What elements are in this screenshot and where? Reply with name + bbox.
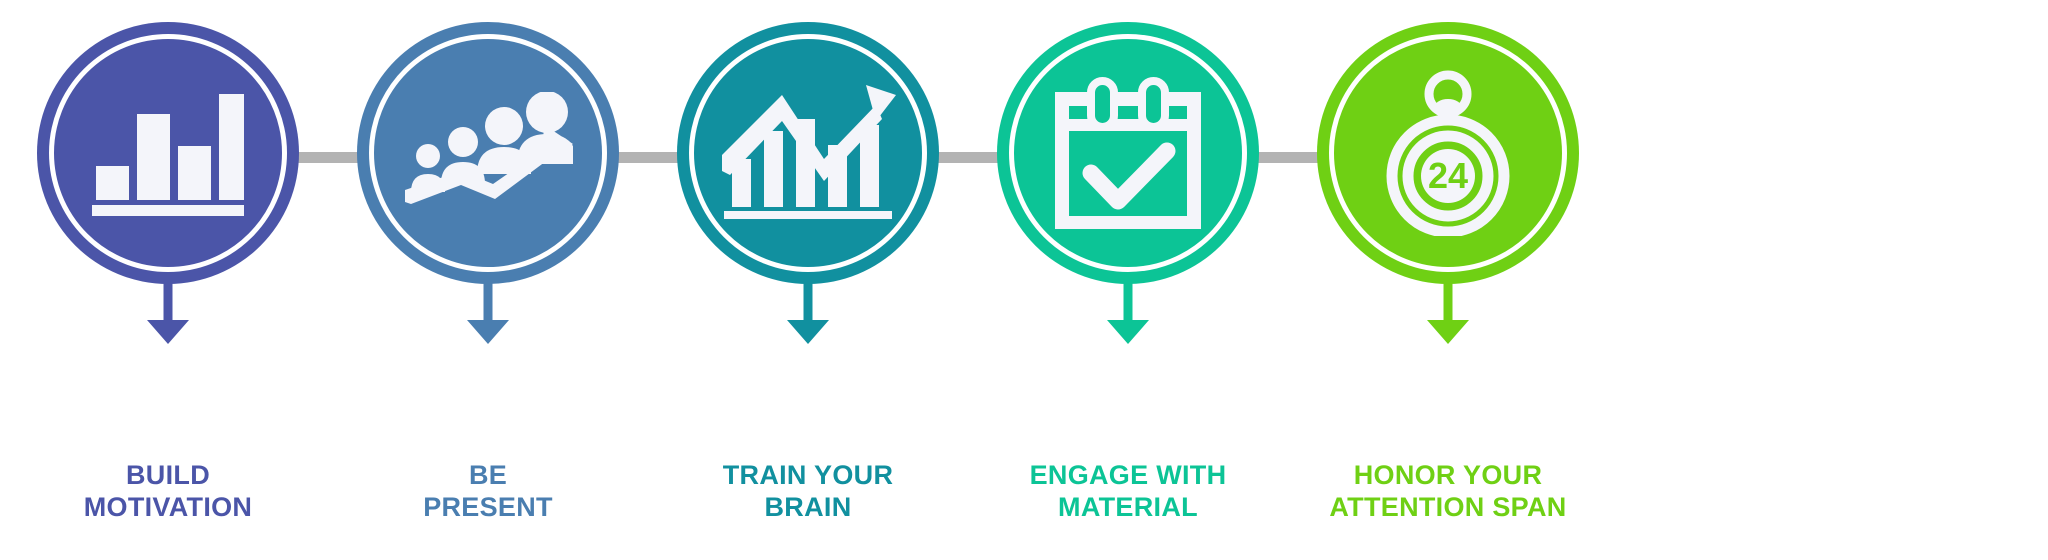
step-label-line-1: HONOR YOUR (1288, 460, 1608, 492)
step-label-line-2: MATERIAL (968, 492, 1288, 524)
calendar-check-icon (997, 22, 1259, 284)
step-circle-train-your-brain[interactable] (677, 22, 939, 284)
step-label-line-1: BUILD (8, 460, 328, 492)
step-label-honor-your-attention-span: HONOR YOUR ATTENTION SPAN (1288, 460, 1608, 523)
step-train-your-brain[interactable]: TRAIN YOUR BRAIN (648, 0, 968, 560)
step-circle-engage-with-material[interactable] (997, 22, 1259, 284)
step-circle-honor-your-attention-span[interactable]: 24 (1317, 22, 1579, 284)
step-label-engage-with-material: ENGAGE WITH MATERIAL (968, 460, 1288, 523)
step-label-train-your-brain: TRAIN YOUR BRAIN (648, 460, 968, 523)
step-build-motivation[interactable]: BUILD MOTIVATION (8, 0, 328, 560)
step-pointer (467, 282, 509, 344)
growth-chart-arrow-icon (677, 22, 939, 284)
step-label-be-present: BE PRESENT (328, 460, 648, 523)
infographic-root: BUILD MOTIVATION (0, 0, 2048, 560)
stopwatch-24-icon: 24 (1317, 22, 1579, 284)
step-label-line-2: PRESENT (328, 492, 648, 524)
step-label-line-1: ENGAGE WITH (968, 460, 1288, 492)
step-label-line-1: TRAIN YOUR (648, 460, 968, 492)
people-growth-arrow-icon (357, 22, 619, 284)
step-pointer (1427, 282, 1469, 344)
step-label-line-2: BRAIN (648, 492, 968, 524)
step-honor-your-attention-span[interactable]: 24 HONOR YOUR ATTENTION SPAN (1288, 0, 1608, 560)
step-circle-build-motivation[interactable] (37, 22, 299, 284)
step-circle-be-present[interactable] (357, 22, 619, 284)
step-label-line-1: BE (328, 460, 648, 492)
step-be-present[interactable]: BE PRESENT (328, 0, 648, 560)
step-engage-with-material[interactable]: ENGAGE WITH MATERIAL (968, 0, 1288, 560)
stopwatch-value: 24 (1428, 155, 1468, 196)
step-label-build-motivation: BUILD MOTIVATION (8, 460, 328, 523)
step-pointer (787, 282, 829, 344)
step-label-line-2: ATTENTION SPAN (1288, 492, 1608, 524)
step-pointer (147, 282, 189, 344)
bar-chart-icon (37, 22, 299, 284)
step-pointer (1107, 282, 1149, 344)
step-label-line-2: MOTIVATION (8, 492, 328, 524)
